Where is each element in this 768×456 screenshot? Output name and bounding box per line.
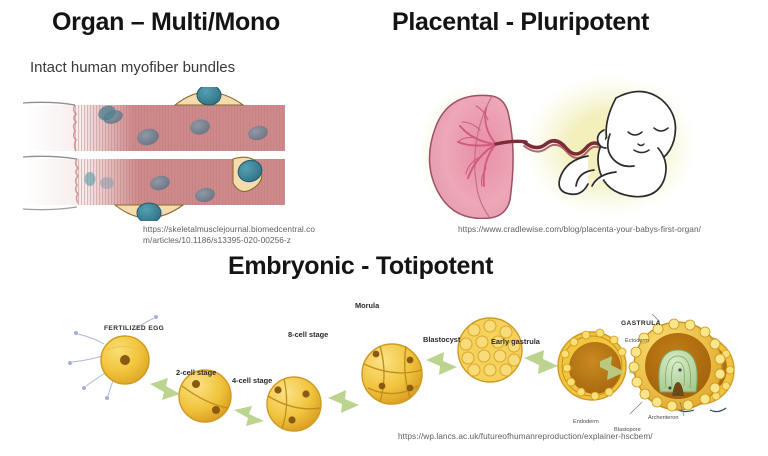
- germ-layer-label-ectoderm: Ectoderm: [625, 338, 649, 344]
- source-url-line-1: https://skeletalmusclejournal.biomedcent…: [143, 224, 315, 234]
- placenta-fetus-illustration: [420, 76, 752, 219]
- stage-label-morula: Morula: [355, 301, 379, 310]
- panel-title-organ: Organ – Multi/Mono: [52, 8, 280, 37]
- slide-canvas: Organ – Multi/Mono Intact human myofiber…: [0, 0, 768, 456]
- germ-layer-label-endoderm: Endoderm: [573, 419, 599, 425]
- source-url-skeletal[interactable]: https://skeletalmusclejournal.biomedcent…: [143, 224, 359, 246]
- myofiber-caption: Intact human myofiber bundles: [30, 59, 235, 76]
- panel-title-placental: Placental - Pluripotent: [392, 8, 649, 37]
- stage-label-4-cell: 4-cell stage: [232, 376, 272, 385]
- gastrula-illustration: [600, 310, 768, 430]
- stage-label-gastrula: GASTRULA: [621, 320, 661, 327]
- germ-layer-label-archenteron: Archenteron: [648, 415, 678, 421]
- stage-label-blastocyst: Blastocyst: [423, 335, 460, 344]
- muscle-myofiber-illustration: [15, 87, 285, 221]
- stage-label-fertilized-egg: FERTILIZED EGG: [104, 325, 164, 332]
- stage-label-8-cell: 8-cell stage: [288, 330, 328, 339]
- panel-title-embryonic: Embryonic - Totipotent: [228, 252, 493, 281]
- stage-label-early-gastrula: Early gastrula: [491, 337, 540, 346]
- source-url-cradlewise[interactable]: https://www.cradlewise.com/blog/placenta…: [458, 224, 701, 235]
- source-url-lancs[interactable]: https://wp.lancs.ac.uk/futureofhumanrepr…: [398, 431, 653, 442]
- source-url-line-2: m/articles/10.1186/s13395-020-00256-z: [143, 235, 291, 245]
- stage-label-2-cell: 2-cell stage: [176, 368, 216, 377]
